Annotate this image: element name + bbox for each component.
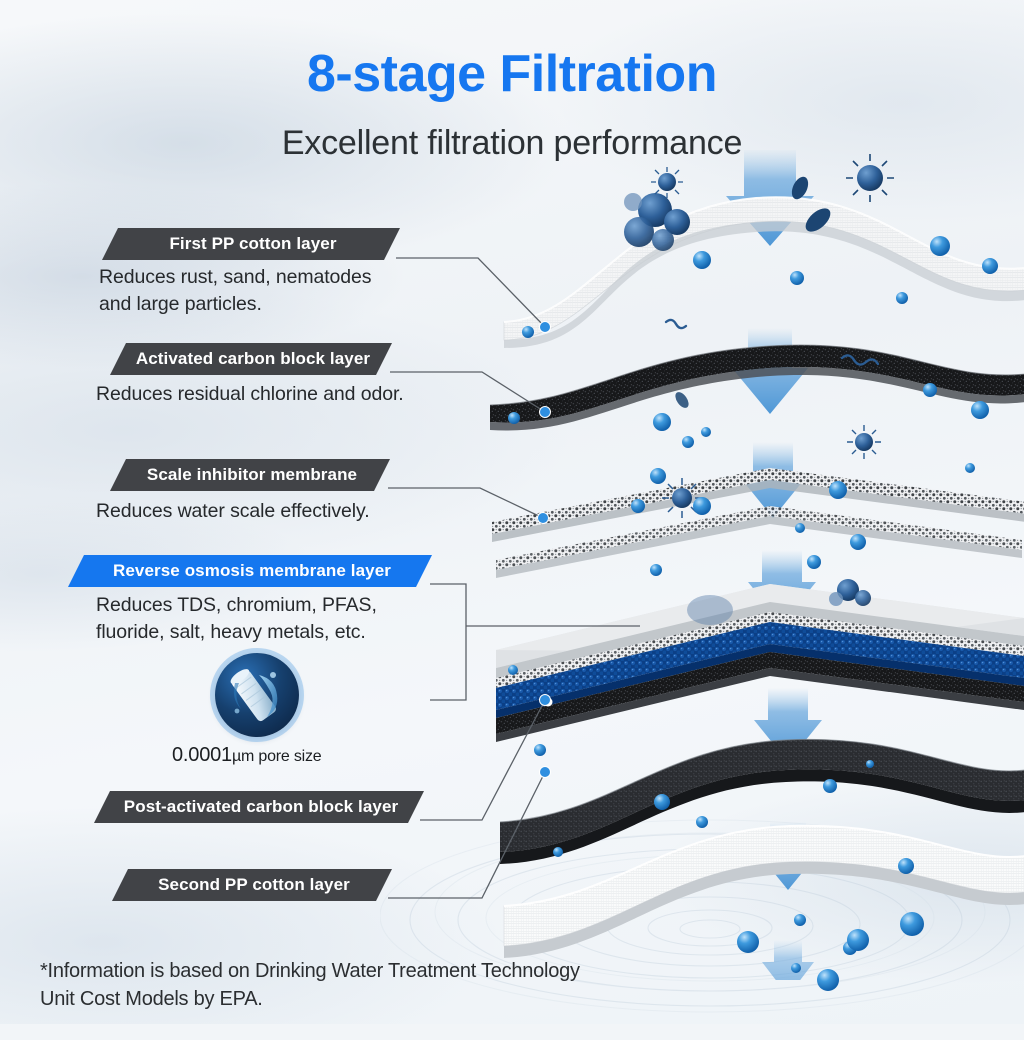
- callout-banner-activated-carbon-block[interactable]: Activated carbon block layer: [110, 343, 392, 375]
- callout-banner-reverse-osmosis-membrane[interactable]: Reverse osmosis membrane layer: [68, 555, 432, 587]
- callout-banner-first-pp-cotton[interactable]: First PP cotton layer: [102, 228, 400, 260]
- falling-droplets: [640, 880, 1024, 1024]
- callout-label: Second PP cotton layer: [158, 875, 350, 895]
- layer-scale-inhibitor-membrane: [492, 468, 1024, 578]
- callout-banner-scale-inhibitor-membrane[interactable]: Scale inhibitor membrane: [110, 459, 390, 491]
- callout-label: Post-activated carbon block layer: [124, 797, 398, 817]
- callout-label: Reverse osmosis membrane layer: [113, 561, 391, 581]
- ro-membrane-roll-icon: [215, 653, 299, 737]
- pore-unit: µm: [232, 748, 254, 765]
- callout-description-reverse-osmosis-membrane: Reduces TDS, chromium, PFAS, fluoride, s…: [96, 592, 377, 646]
- callout-banner-second-pp-cotton[interactable]: Second PP cotton layer: [112, 869, 392, 901]
- callout-description-scale-inhibitor-membrane: Reduces water scale effectively.: [96, 498, 370, 525]
- pore-size-badge[interactable]: [215, 653, 299, 737]
- callout-label: Scale inhibitor membrane: [147, 465, 357, 485]
- pore-suffix: pore size: [254, 748, 321, 765]
- footnote-text: *Information is based on Drinking Water …: [40, 957, 580, 1013]
- pore-size-text: 0.0001µm pore size: [172, 744, 322, 767]
- callout-label: First PP cotton layer: [169, 234, 336, 254]
- callout-banner-post-activated-carbon-block[interactable]: Post-activated carbon block layer: [94, 791, 424, 823]
- page-title: 8-stage Filtration: [0, 44, 1024, 104]
- callout-description-first-pp-cotton: Reduces rust, sand, nematodes and large …: [99, 264, 371, 318]
- pore-value: 0.0001: [172, 744, 232, 766]
- layer-reverse-osmosis-membrane: [496, 584, 1024, 742]
- layer-first-pp-cotton: [504, 197, 1024, 348]
- callout-label: Activated carbon block layer: [136, 349, 370, 369]
- callout-description-activated-carbon-block: Reduces residual chlorine and odor.: [96, 381, 404, 408]
- filter-layer-stack-illustration: [470, 150, 1024, 980]
